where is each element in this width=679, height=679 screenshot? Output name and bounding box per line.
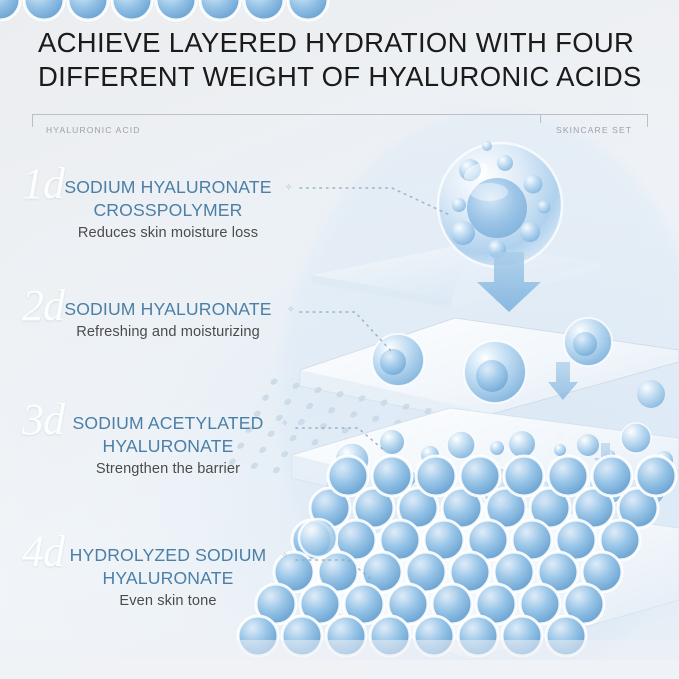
ingredient-number-3: 3d <box>22 398 64 442</box>
ingredient-number-2: 2d <box>22 284 64 328</box>
rule-tick-mid <box>540 114 541 123</box>
sparkle-icon: ✧ <box>285 183 293 192</box>
title-line-1: ACHIEVE LAYERED HYDRATION WITH FOUR <box>38 26 648 60</box>
rule-cap-left <box>32 114 33 127</box>
sparkle-icon: ✧ <box>281 419 289 428</box>
title-line-2: DIFFERENT WEIGHT OF HYALURONIC ACIDS <box>38 60 648 94</box>
rule-cap-right <box>647 114 648 127</box>
ingredient-subtitle-1: Reduces skin moisture loss <box>0 222 300 244</box>
rule-label-left: HYALURONIC ACID <box>46 125 141 135</box>
ingredient-title-line: HYALURONATE <box>44 435 292 458</box>
ingredient-title-line: CROSSPOLYMER <box>44 199 292 222</box>
ingredient-item-1: 1d SODIUM HYALURONATE CROSSPOLYMER Reduc… <box>0 176 300 244</box>
rule-label-right: SKINCARE SET <box>556 125 632 135</box>
page-title: ACHIEVE LAYERED HYDRATION WITH FOUR DIFF… <box>38 26 648 94</box>
ingredient-title-line: SODIUM HYALURONATE <box>44 298 292 321</box>
section-rule: HYALURONIC ACID SKINCARE SET <box>32 114 648 142</box>
ingredient-item-2: 2d SODIUM HYALURONATE Refreshing and moi… <box>0 298 300 343</box>
ingredient-item-4: 4d HYDROLYZED SODIUM HYALURONATE Even sk… <box>0 544 300 612</box>
ingredient-title-line: SODIUM HYALURONATE <box>44 176 292 199</box>
sparkle-icon: ✧ <box>281 551 289 560</box>
infographic-page: ACHIEVE LAYERED HYDRATION WITH FOUR DIFF… <box>0 0 679 679</box>
ingredient-number-4: 4d <box>22 530 64 574</box>
ingredient-title-line: SODIUM ACETYLATED <box>44 412 292 435</box>
sparkle-icon: ✧ <box>287 305 295 314</box>
ingredient-subtitle-3: Strengthen the barrier <box>0 458 300 480</box>
rule-line <box>32 114 648 115</box>
ingredient-title-line: HYALURONATE <box>44 567 292 590</box>
ingredient-number-1: 1d <box>22 162 64 206</box>
bubble-row <box>0 0 328 20</box>
ingredient-item-3: 3d SODIUM ACETYLATED HYALURONATE Strengt… <box>0 412 300 480</box>
ingredient-subtitle-4: Even skin tone <box>0 590 300 612</box>
ingredient-title-line: HYDROLYZED SODIUM <box>44 544 292 567</box>
